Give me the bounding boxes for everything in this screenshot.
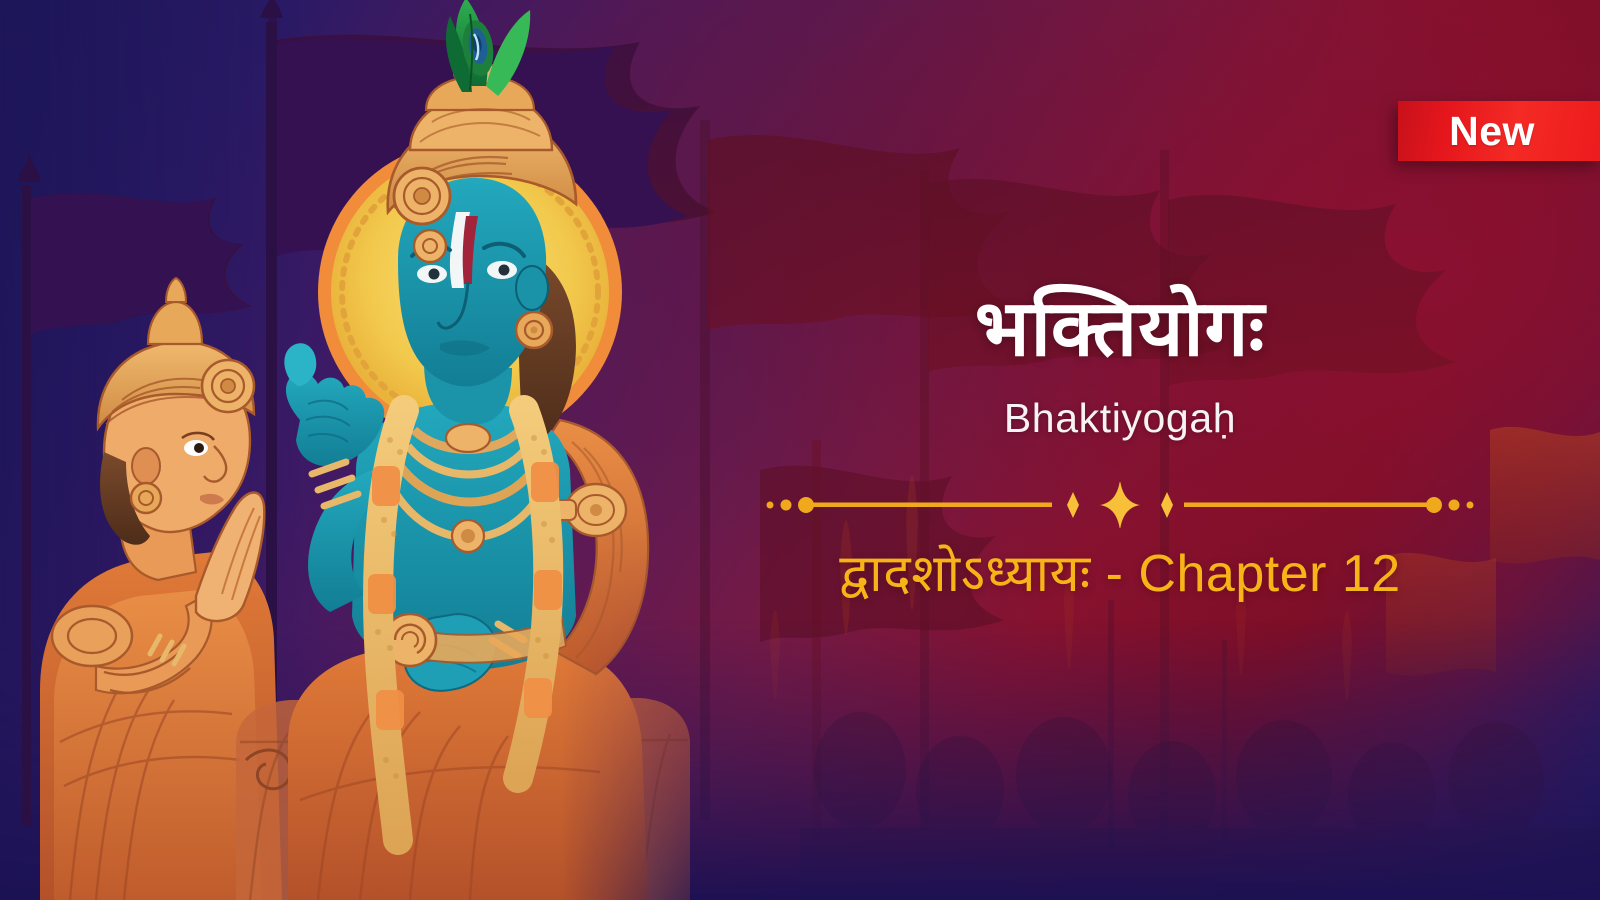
divider-line-left (812, 502, 1052, 507)
divider-dot-large-left (798, 497, 814, 513)
chapter-banner: New भक्तियोगः Bhaktiyogaḥ (0, 0, 1600, 900)
chapter-title-sanskrit: भक्तियोगः (975, 285, 1265, 372)
divider-dot-medium-left (781, 499, 792, 510)
chapter-text-panel: भक्तियोगः Bhaktiyogaḥ (740, 0, 1500, 900)
chapter-title-transliteration: Bhaktiyogaḥ (1004, 396, 1236, 441)
divider-dot-small-left (767, 501, 774, 508)
chapter-number-label: द्वादशोऽध्यायः - Chapter 12 (839, 544, 1400, 605)
divider-line-right (1184, 502, 1428, 507)
divider-dot-large-right (1426, 497, 1442, 513)
divider-star-large (1100, 482, 1140, 528)
ornamental-divider (764, 482, 1476, 528)
krishna-arjuna-illustration (0, 0, 760, 900)
divider-star-small-left (1067, 492, 1079, 518)
divider-star-small-right (1161, 492, 1173, 518)
divider-dot-medium-right (1449, 499, 1460, 510)
divider-dot-small-right (1467, 501, 1474, 508)
